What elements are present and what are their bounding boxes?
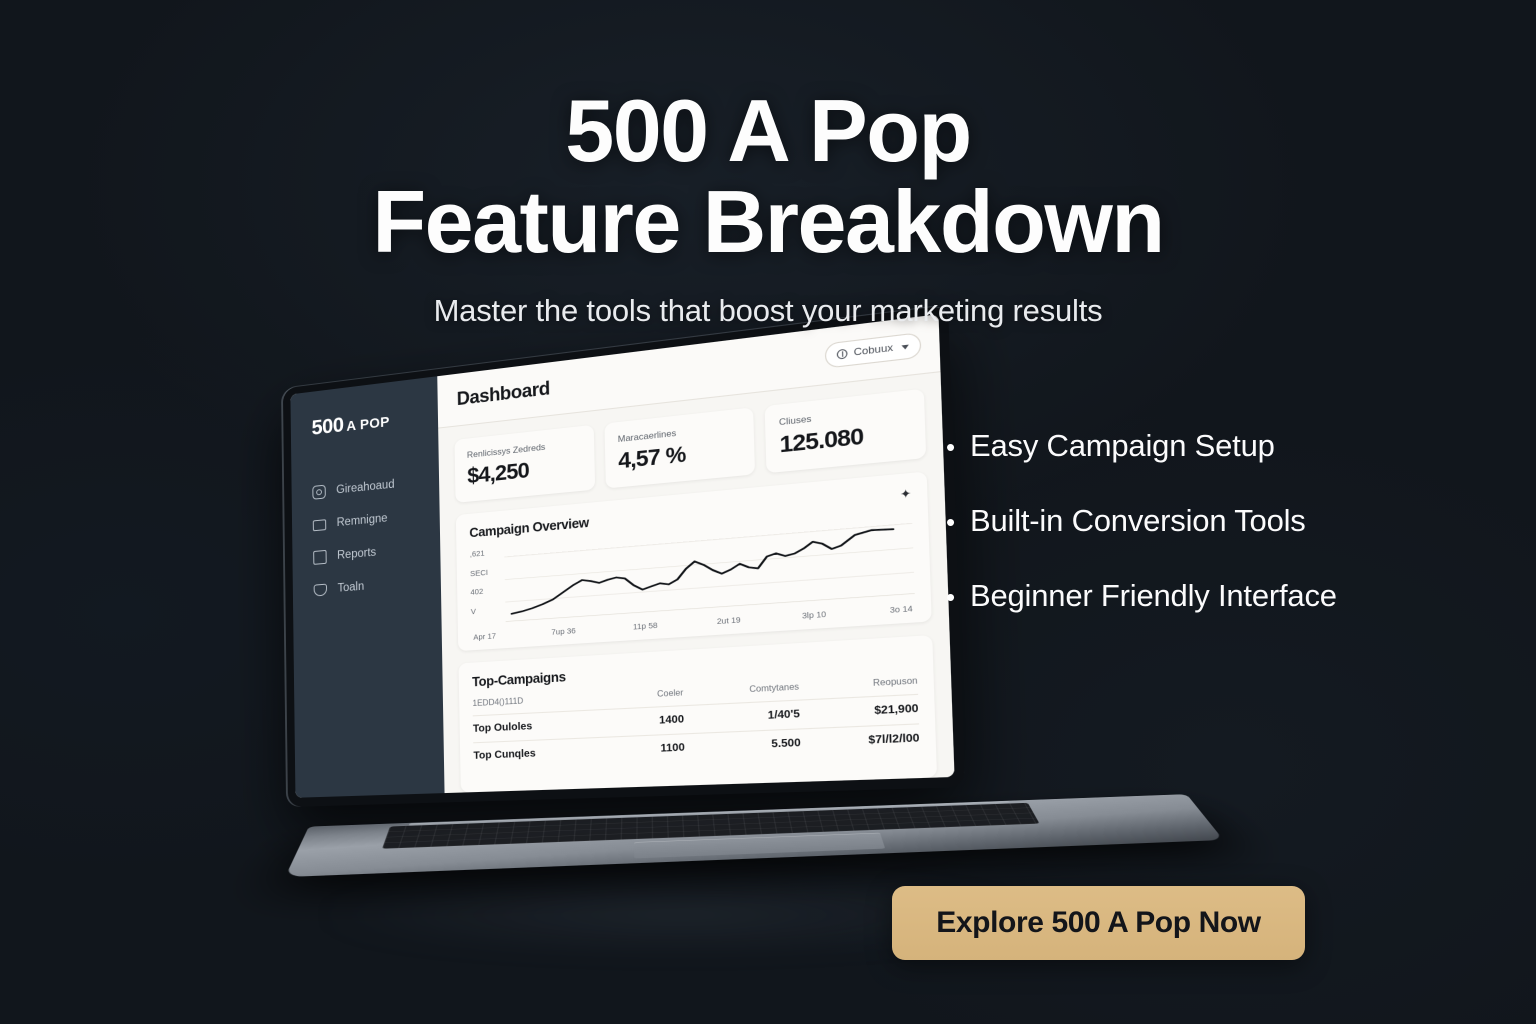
chart-y-axis: ,621 SECI 402 V xyxy=(470,546,502,629)
trophy-icon xyxy=(314,583,328,596)
bullet-icon: • xyxy=(938,434,970,460)
x-tick-label: 11p 58 xyxy=(633,620,658,631)
x-tick-label: 3o 14 xyxy=(890,603,913,615)
app-sidebar: 500A POP Gireahoaud Remnigne Reports Toa… xyxy=(290,376,444,798)
table-cell: 1100 xyxy=(623,734,685,764)
list-item: • Easy Campaign Setup xyxy=(938,428,1468,464)
metric-value: $4,250 xyxy=(467,453,582,489)
feature-label: Easy Campaign Setup xyxy=(970,428,1275,464)
list-item: • Beginner Friendly Interface xyxy=(938,578,1468,614)
title-line-1: 500 A Pop xyxy=(565,81,970,180)
hero-section: 500 A Pop Feature Breakdown Master the t… xyxy=(0,86,1536,329)
metric-value: 4,57 % xyxy=(618,437,741,475)
sparkle-icon[interactable]: ✦ xyxy=(900,488,912,501)
x-tick-label: 7up 36 xyxy=(551,626,576,637)
bullet-icon: • xyxy=(938,584,970,610)
title-line-2: Feature Breakdown xyxy=(0,177,1536,268)
sidebar-item-label: Remnigne xyxy=(337,512,388,529)
keyboard-deck xyxy=(285,794,1223,877)
metric-card[interactable]: Maracaerlines 4,57 % xyxy=(604,407,755,488)
y-tick-label: ,621 xyxy=(470,547,501,559)
table-cell: 5.500 xyxy=(684,729,801,762)
x-tick-label: Apr 17 xyxy=(473,631,496,642)
laptop-lid: 500A POP Gireahoaud Remnigne Reports Toa… xyxy=(283,305,965,807)
y-tick-label: V xyxy=(471,605,502,616)
column-selector-label: Cobuux xyxy=(854,342,894,359)
table-cell: Top Cunqles xyxy=(473,736,623,769)
x-tick-label: 3lp 10 xyxy=(802,609,826,621)
list-item: • Built-in Conversion Tools xyxy=(938,503,1468,539)
logo-main-text: 500 xyxy=(311,414,343,440)
y-tick-label: 402 xyxy=(470,586,501,598)
app-content: Renlicissys Zedreds $4,250 Maracaerlines… xyxy=(438,372,954,793)
document-icon xyxy=(313,549,327,564)
app-main: Dashboard Cobuux Renlicissys Zedreds $4,… xyxy=(437,314,954,793)
campaign-overview-chart-card: Campaign Overview ✦ ,621 SECI 402 V xyxy=(456,471,932,651)
dashboard-screen: 500A POP Gireahoaud Remnigne Reports Toa… xyxy=(290,314,954,798)
chevron-down-icon xyxy=(901,344,908,349)
screen-icon xyxy=(313,519,326,531)
feature-list: • Easy Campaign Setup • Built-in Convers… xyxy=(938,428,1468,653)
feature-label: Beginner Friendly Interface xyxy=(970,578,1337,614)
metric-card[interactable]: Cliuses 125.080 xyxy=(765,389,927,474)
page-title: 500 A Pop Feature Breakdown xyxy=(0,86,1536,267)
chart-title: Campaign Overview xyxy=(469,515,589,540)
hero-subtitle: Master the tools that boost your marketi… xyxy=(0,293,1536,329)
x-tick-label: 2ut 19 xyxy=(717,615,741,626)
app-logo: 500A POP xyxy=(291,402,438,443)
sidebar-item-label: Gireahoaud xyxy=(336,478,394,496)
metric-card[interactable]: Renlicissys Zedreds $4,250 xyxy=(454,425,595,503)
sidebar-item-label: Reports xyxy=(337,546,376,561)
dashboard-title: Dashboard xyxy=(457,378,550,410)
bullet-icon: • xyxy=(938,509,970,535)
table-cell: 1400 xyxy=(622,706,684,737)
top-campaigns-table: 1EDD4()111D Coeler Comtytanes Reopuson T… xyxy=(472,676,920,770)
column-selector-button[interactable]: Cobuux xyxy=(825,332,922,369)
feature-label: Built-in Conversion Tools xyxy=(970,503,1306,539)
y-tick-label: SECI xyxy=(470,566,501,578)
table-column-header: Coeler xyxy=(622,688,684,709)
globe-icon xyxy=(837,349,848,360)
explore-cta-button[interactable]: Explore 500 A Pop Now xyxy=(892,886,1305,960)
sidebar-item-label: Toaln xyxy=(338,580,365,594)
dashboard-icon xyxy=(312,484,325,499)
logo-suffix-text: A POP xyxy=(346,413,389,434)
top-campaigns-card: Top-Campaigns 1EDD4()111D Coeler Comtyta… xyxy=(459,635,938,793)
chart-series-line xyxy=(511,528,895,613)
table-cell: $7l/l2/l00 xyxy=(800,724,920,757)
